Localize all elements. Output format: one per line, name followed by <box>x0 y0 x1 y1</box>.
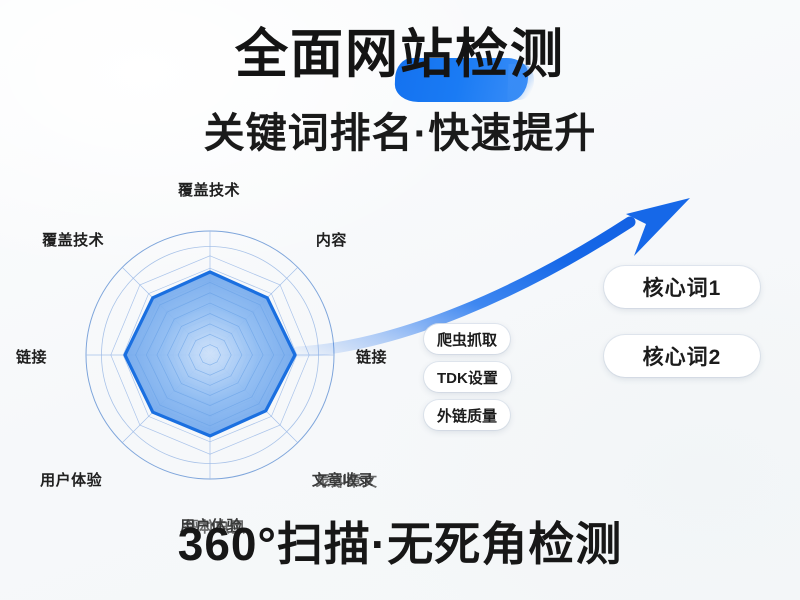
radar-axis-label-7: 覆盖技术 <box>42 229 104 250</box>
radar-axis-label-0: 覆盖技术 <box>178 179 240 200</box>
radar-axis-label-ghost: 文章收录 <box>315 470 377 491</box>
page-subtitle: 关键词排名·快速提升 <box>0 113 800 154</box>
title-segment-after: 检测 <box>455 25 565 84</box>
tag-tdk[interactable]: TDK设置 <box>424 362 511 392</box>
radar-axis-label-5: 用户体验 <box>40 469 102 490</box>
keyword-core-1[interactable]: 核心词1 <box>604 266 760 308</box>
tag-backlink-quality[interactable]: 外链质量 <box>424 400 510 430</box>
keyword-core-2[interactable]: 核心词2 <box>604 335 760 377</box>
tag-crawl[interactable]: 爬虫抓取 <box>424 324 510 354</box>
page-title: 全面网站检测 <box>235 28 565 81</box>
title-segment-before: 全面 <box>235 25 345 84</box>
arrow-head <box>626 198 690 256</box>
title-segment-highlight: 网站 <box>345 25 455 84</box>
radar-axis-label-6: 链接 <box>16 346 47 367</box>
radar-axis-label-3: 文章收录文章收录 <box>312 469 374 490</box>
headline-container: 全面网站检测 <box>0 28 800 81</box>
page-footline: 360°扫描·无死角检测 <box>0 521 800 567</box>
